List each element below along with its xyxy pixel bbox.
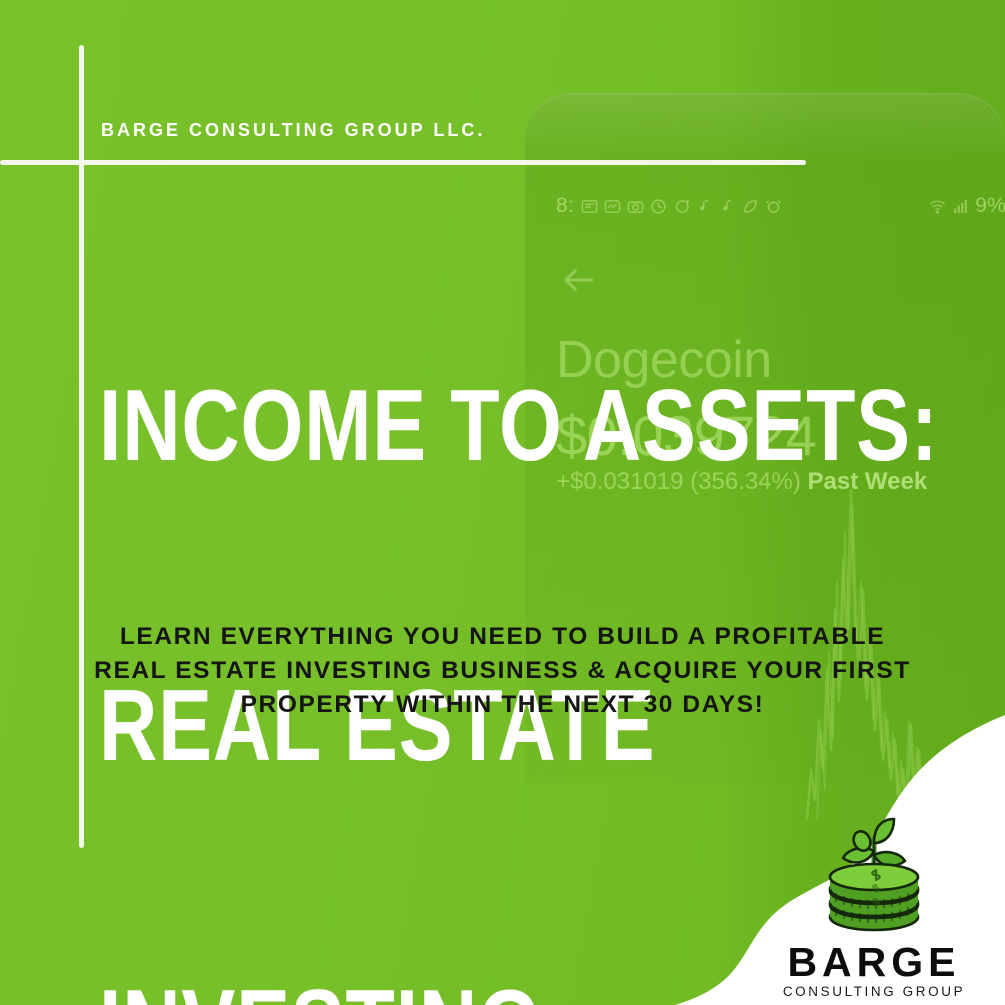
signal-bars-icon <box>952 198 969 215</box>
horizontal-rule <box>0 160 806 165</box>
logo-wordmark: BARGE <box>787 941 960 983</box>
vertical-rule <box>79 45 84 848</box>
page-title: INCOME TO ASSETS: REAL ESTATE INVESTING … <box>99 176 739 1005</box>
poster-canvas: 8: 9% Dogecoin $0.039724 +$0.031019 (356… <box>0 0 1005 1005</box>
headline-line-1: INCOME TO ASSETS: <box>99 376 739 476</box>
alarm-icon <box>765 198 782 215</box>
plant-growing-from-coin-stack-icon <box>804 799 944 939</box>
leaf-icon <box>742 198 759 215</box>
brand-eyebrow: BARGE CONSULTING GROUP LLC. <box>101 120 485 141</box>
status-bar-right-icons: 9% <box>929 194 1005 218</box>
wifi-icon <box>929 198 946 215</box>
brand-logo: BARGE CONSULTING GROUP <box>765 779 983 999</box>
subtitle-line-1: LEARN EVERYTHING YOU NEED TO BUILD A PRO… <box>70 620 935 654</box>
background-phone-panel-gloss <box>525 93 1005 163</box>
headline-line-3: INVESTING <box>99 976 739 1005</box>
status-bar-battery: 9% <box>975 194 1005 218</box>
logo-tagline: CONSULTING GROUP <box>783 984 965 999</box>
